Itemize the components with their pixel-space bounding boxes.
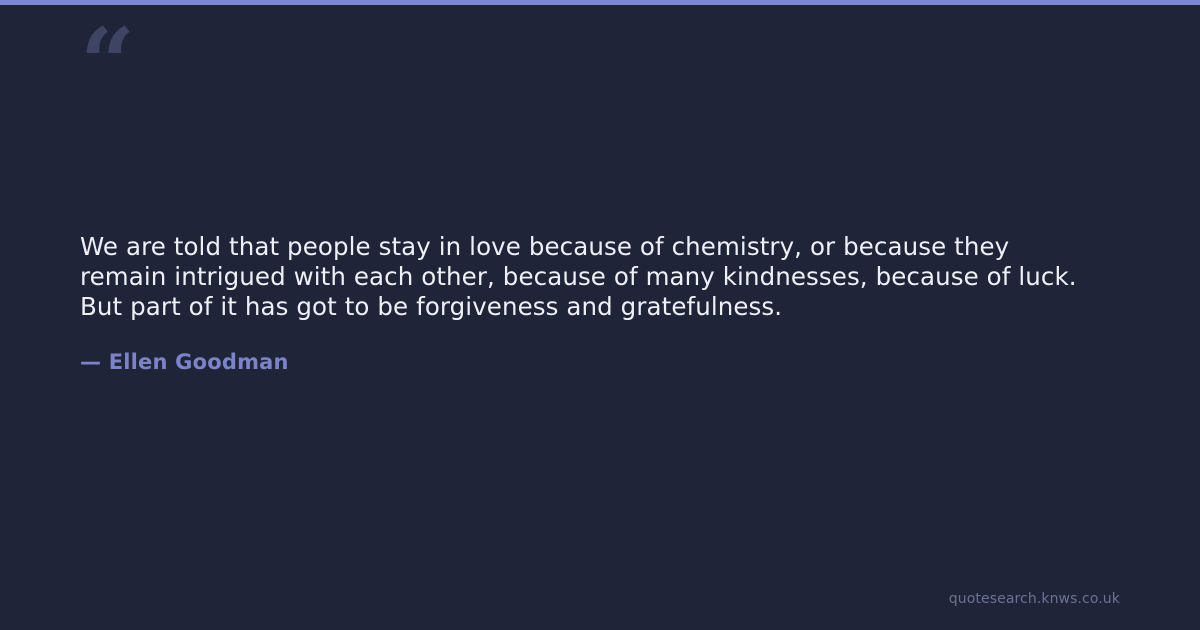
top-accent-bar (0, 0, 1200, 5)
quote-content-block: We are told that people stay in love bec… (80, 232, 1092, 375)
footer-site-url: quotesearch.knws.co.uk (949, 590, 1120, 608)
quote-card: “ We are told that people stay in love b… (0, 0, 1200, 630)
quotation-mark-icon: “ (80, 16, 133, 112)
quote-attribution: — Ellen Goodman (80, 322, 1092, 375)
quote-text: We are told that people stay in love bec… (80, 232, 1092, 322)
